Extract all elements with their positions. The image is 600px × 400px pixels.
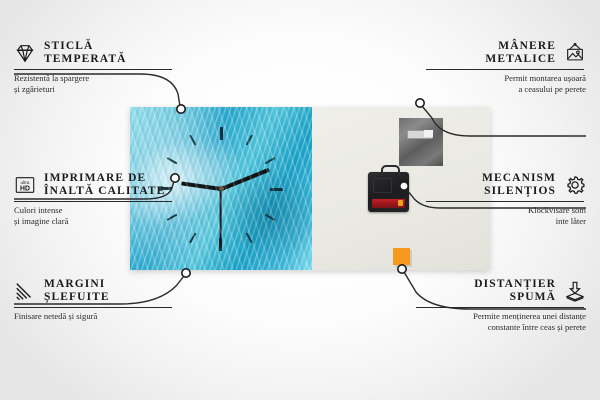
svg-text:HD: HD (20, 186, 30, 193)
clock-minute-hand (220, 167, 270, 190)
clock-second-hand (220, 189, 222, 247)
callout-rule (426, 201, 584, 202)
callout-subtitle: Rezistentă la spargere și zgârieturi (14, 73, 174, 94)
callout-rule (14, 201, 172, 202)
clock-tick (167, 188, 222, 221)
clock-tick (189, 134, 222, 189)
callout-subtitle: Permit montarea ușoară a ceasului pe per… (426, 73, 586, 94)
callout-rule (14, 69, 172, 70)
clock-center-cap (219, 186, 224, 191)
picture-hanger-icon (564, 42, 586, 64)
clock-tick (189, 188, 222, 243)
callout-subtitle: Culori intense și imagine clară (14, 205, 174, 226)
clock-tick (221, 157, 276, 190)
callout-subtitle: Klockvisare som inte låter (426, 205, 586, 226)
callout-title: MARGINI ȘLEFUITE (44, 278, 110, 304)
connector-dot-manere (416, 99, 424, 107)
callout-title: STICLĂ TEMPERATĂ (44, 40, 127, 66)
callout-imprimare-hd: ultra HD IMPRIMARE DE ÎNALTĂ CALITATE Cu… (14, 172, 174, 226)
clock-tick (220, 134, 253, 189)
infographic-canvas: STICLĂ TEMPERATĂ Rezistentă la spargere … (0, 0, 600, 400)
ultra-hd-icon: ultra HD (14, 174, 36, 196)
svg-text:ultra: ultra (21, 180, 30, 185)
clock-tick (221, 188, 276, 221)
foam-spacer (393, 248, 410, 265)
metal-hanger (399, 118, 443, 166)
arrow-down-pad-icon (564, 280, 586, 302)
hanger-slot (407, 130, 433, 139)
callout-header: STICLĂ TEMPERATĂ (14, 40, 174, 66)
callout-rule (426, 69, 584, 70)
clock-tick (220, 189, 222, 251)
callout-mecanism-silentios: MECANISM SILENȚIOS Klockvisare som inte … (426, 172, 586, 226)
gear-icon (564, 174, 586, 196)
callout-header: MECANISM SILENȚIOS (426, 172, 586, 198)
callout-title: IMPRIMARE DE ÎNALTĂ CALITATE (44, 172, 165, 198)
callout-rule (14, 307, 172, 308)
clock-hour-hand (181, 181, 221, 191)
clock-tick (167, 157, 222, 190)
mechanism-dial (373, 178, 392, 193)
callout-rule (416, 307, 584, 308)
callout-distantier-spuma: DISTANȚIER SPUMĂ Permite menținerea unei… (416, 278, 586, 332)
clock-mechanism (368, 172, 409, 212)
callout-manere-metalice: MÂNERE METALICE Permit montarea ușoară a… (426, 40, 586, 94)
callout-subtitle: Finisare netedă și sigură (14, 311, 174, 322)
callout-title: DISTANȚIER SPUMĂ (416, 278, 556, 304)
callout-title: MECANISM SILENȚIOS (426, 172, 556, 198)
feather-shadow (182, 152, 312, 270)
callout-header: ultra HD IMPRIMARE DE ÎNALTĂ CALITATE (14, 172, 174, 198)
clock-tick (220, 127, 222, 189)
callout-title: MÂNERE METALICE (426, 40, 556, 66)
beveled-edges-icon (14, 280, 36, 302)
callout-margini-slefuite: MARGINI ȘLEFUITE Finisare netedă și sigu… (14, 278, 174, 322)
callout-sticla-temperata: STICLĂ TEMPERATĂ Rezistentă la spargere … (14, 40, 174, 94)
mechanism-battery (372, 199, 405, 208)
clock-tick (220, 188, 253, 243)
callout-subtitle: Permite menținerea unei distanțe constan… (416, 311, 586, 332)
callout-header: DISTANȚIER SPUMĂ (416, 278, 586, 304)
callout-header: MARGINI ȘLEFUITE (14, 278, 174, 304)
clock-tick (221, 188, 283, 190)
diamond-icon (14, 42, 36, 64)
callout-header: MÂNERE METALICE (426, 40, 586, 66)
connector-dot-margini (182, 269, 190, 277)
mechanism-loop (381, 165, 400, 176)
